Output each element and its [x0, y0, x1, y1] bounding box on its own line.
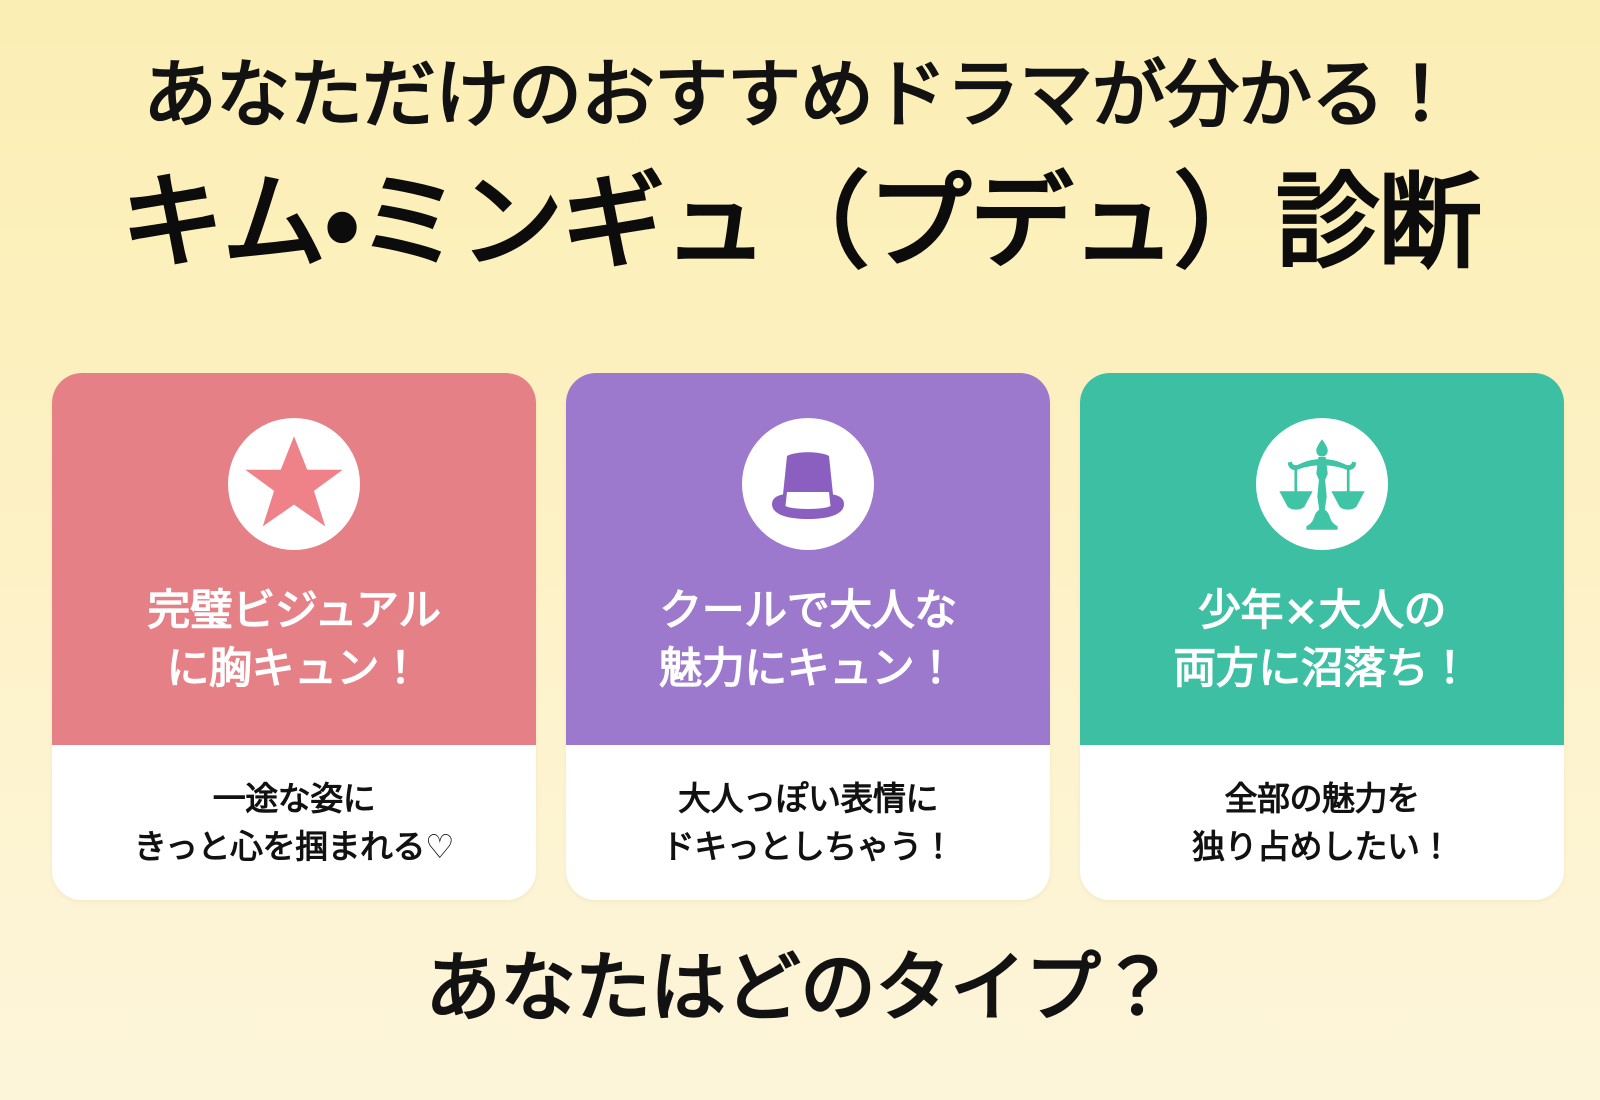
card-header: クールで大人な 魅力にキュン！ [566, 373, 1050, 745]
card-body-text: 全部の魅力を 独り占めしたい！ [1192, 775, 1452, 871]
card-body-text: 大人っぽい表情に ドキっとしちゃう！ [662, 775, 955, 871]
type-card-row: 完璧ビジュアル に胸キュン！ 一途な姿に きっと心を掴まれる♡ [52, 373, 1564, 900]
type-card-cool-adult[interactable]: クールで大人な 魅力にキュン！ 大人っぽい表情に ドキっとしちゃう！ [566, 373, 1050, 900]
footer-question: あなたはどのタイプ？ [0, 950, 1600, 1026]
card-title: 完璧ビジュアル に胸キュン！ [147, 550, 440, 698]
page-title: キム・ミンギュ（プデュ）診断 [120, 132, 1479, 274]
card-header: 完璧ビジュアル に胸キュン！ [52, 373, 536, 745]
kicker-headline: あなただけのおすすめドラマが分かる！ [143, 0, 1457, 132]
card-body-text: 一途な姿に きっと心を掴まれる♡ [134, 775, 454, 871]
icon-badge [742, 418, 874, 550]
star-icon [241, 431, 347, 537]
icon-badge [1256, 418, 1388, 550]
poster-canvas: あなただけのおすすめドラマが分かる！ キム・ミンギュ（プデュ）診断 完璧ビジュア… [0, 0, 1600, 1100]
card-header: 少年×大人の 両方に沼落ち！ [1080, 373, 1564, 745]
balance-scales-icon [1270, 432, 1374, 536]
card-body: 大人っぽい表情に ドキっとしちゃう！ [566, 745, 1050, 900]
type-card-visual[interactable]: 完璧ビジュアル に胸キュン！ 一途な姿に きっと心を掴まれる♡ [52, 373, 536, 900]
card-body: 全部の魅力を 独り占めしたい！ [1080, 745, 1564, 900]
top-hat-icon [758, 434, 858, 534]
card-title: 少年×大人の 両方に沼落ち！ [1173, 550, 1471, 698]
icon-badge [228, 418, 360, 550]
card-title: クールで大人な 魅力にキュン！ [659, 550, 957, 698]
card-body: 一途な姿に きっと心を掴まれる♡ [52, 745, 536, 900]
type-card-both[interactable]: 少年×大人の 両方に沼落ち！ 全部の魅力を 独り占めしたい！ [1080, 373, 1564, 900]
